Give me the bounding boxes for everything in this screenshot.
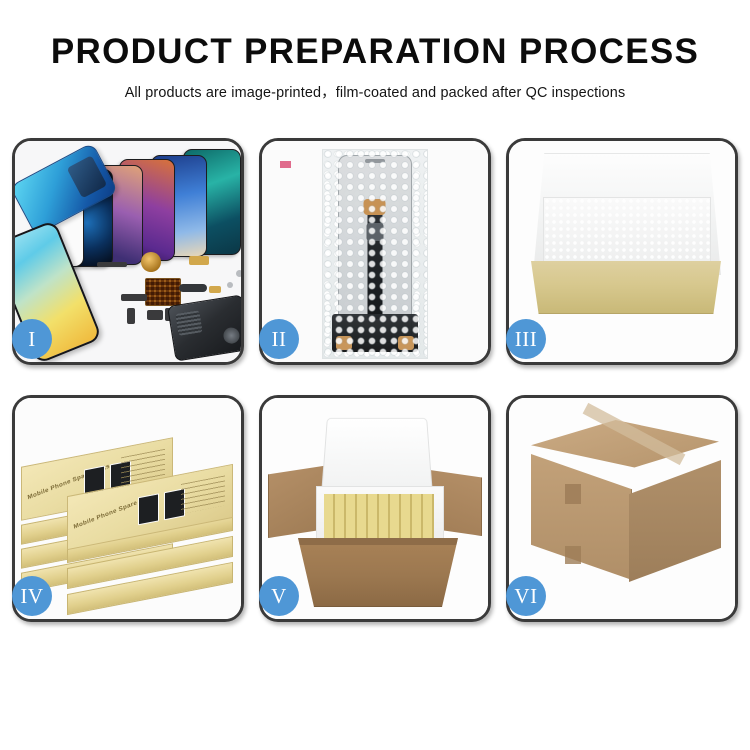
carton-handle-tab xyxy=(565,484,581,504)
gold-connector-icon xyxy=(189,256,209,265)
step-badge-3: III xyxy=(506,319,546,359)
page-title: PRODUCT PREPARATION PROCESS xyxy=(0,34,750,71)
step-badge-1: I xyxy=(12,319,52,359)
process-step-5[interactable]: V xyxy=(259,395,491,622)
box-spec-lines xyxy=(181,475,225,514)
box-stack-group: Mobile Phone Spare Parts Mobile Phone Sp… xyxy=(21,414,239,612)
pink-label-icon xyxy=(280,161,291,168)
screw-icon xyxy=(227,282,233,288)
part-small-icon xyxy=(127,308,135,324)
part-strip-icon xyxy=(97,262,127,267)
step-badge-6: VI xyxy=(506,576,546,616)
process-step-6[interactable]: VI xyxy=(506,395,738,622)
process-step-grid: I II III xyxy=(12,138,738,622)
part-connector-icon xyxy=(121,294,147,301)
process-step-3[interactable]: III xyxy=(506,138,738,365)
phone-backplate-icon xyxy=(167,294,241,361)
page-subtitle: All products are image-printed，film-coat… xyxy=(0,81,750,102)
page-header: PRODUCT PREPARATION PROCESS All products… xyxy=(0,0,750,102)
process-step-4[interactable]: Mobile Phone Spare Parts Mobile Phone Sp… xyxy=(12,395,244,622)
process-step-2[interactable]: II xyxy=(259,138,491,365)
kraft-box-base xyxy=(531,261,721,314)
step-badge-5: V xyxy=(259,576,299,616)
copper-coil-icon xyxy=(141,252,161,272)
flex-cable-icon xyxy=(179,284,207,292)
spare-parts-group xyxy=(97,250,241,354)
step-badge-4: IV xyxy=(12,576,52,616)
carton-body xyxy=(298,538,458,607)
process-step-1[interactable]: I xyxy=(12,138,244,365)
carton-handle-tab xyxy=(565,546,581,564)
part-speaker-icon xyxy=(147,310,163,320)
gold-tab-icon xyxy=(209,286,221,293)
box-phone-image xyxy=(138,493,159,525)
flex-cable-icon xyxy=(368,213,383,319)
yellow-boxes-inside xyxy=(324,494,434,538)
chip-array-icon xyxy=(145,278,181,306)
screw-icon xyxy=(236,270,241,277)
bottom-connector-icon xyxy=(332,314,418,352)
step-badge-2: II xyxy=(259,319,299,359)
